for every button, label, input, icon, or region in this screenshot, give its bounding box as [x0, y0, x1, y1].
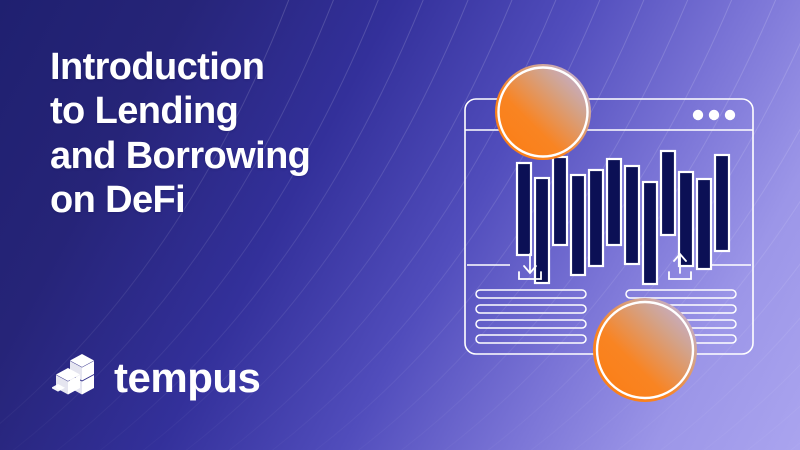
brand-logo: tempus	[52, 352, 260, 404]
placeholder-lines-left	[476, 290, 586, 343]
bar-9	[661, 151, 675, 235]
window-dot-1	[693, 110, 703, 120]
bar-8	[643, 182, 657, 284]
page-title: Introduction to Lending and Borrowing on…	[50, 45, 310, 223]
placeholder-line	[476, 335, 586, 343]
bar-11	[697, 179, 711, 269]
bar-7	[625, 166, 639, 264]
bar-10	[679, 172, 693, 266]
window-control-dots[interactable]	[693, 110, 735, 120]
coin-top	[495, 64, 591, 160]
bar-4	[571, 175, 585, 275]
bar-2	[535, 178, 549, 283]
page-title-line-3: and Borrowing	[50, 134, 310, 178]
page-title-line-2: to Lending	[50, 89, 310, 133]
window-dot-3	[725, 110, 735, 120]
placeholder-line	[476, 320, 586, 328]
bar-3	[553, 157, 567, 245]
bar-1	[517, 163, 531, 255]
placeholder-line	[626, 290, 736, 298]
window-dot-2	[709, 110, 719, 120]
placeholder-line	[476, 290, 586, 298]
page-title-line-1: Introduction	[50, 45, 310, 89]
tempus-logo-icon	[52, 352, 96, 404]
coin-bottom	[593, 298, 697, 402]
bar-12	[715, 155, 729, 251]
page-title-line-4: on DeFi	[50, 178, 310, 222]
placeholder-line	[476, 305, 586, 313]
defi-dashboard-illustration	[455, 45, 765, 420]
banner-canvas: Introduction to Lending and Borrowing on…	[0, 0, 800, 450]
bar-chart	[517, 151, 729, 284]
brand-wordmark: tempus	[114, 357, 260, 399]
bar-6	[607, 159, 621, 245]
bar-5	[589, 170, 603, 266]
